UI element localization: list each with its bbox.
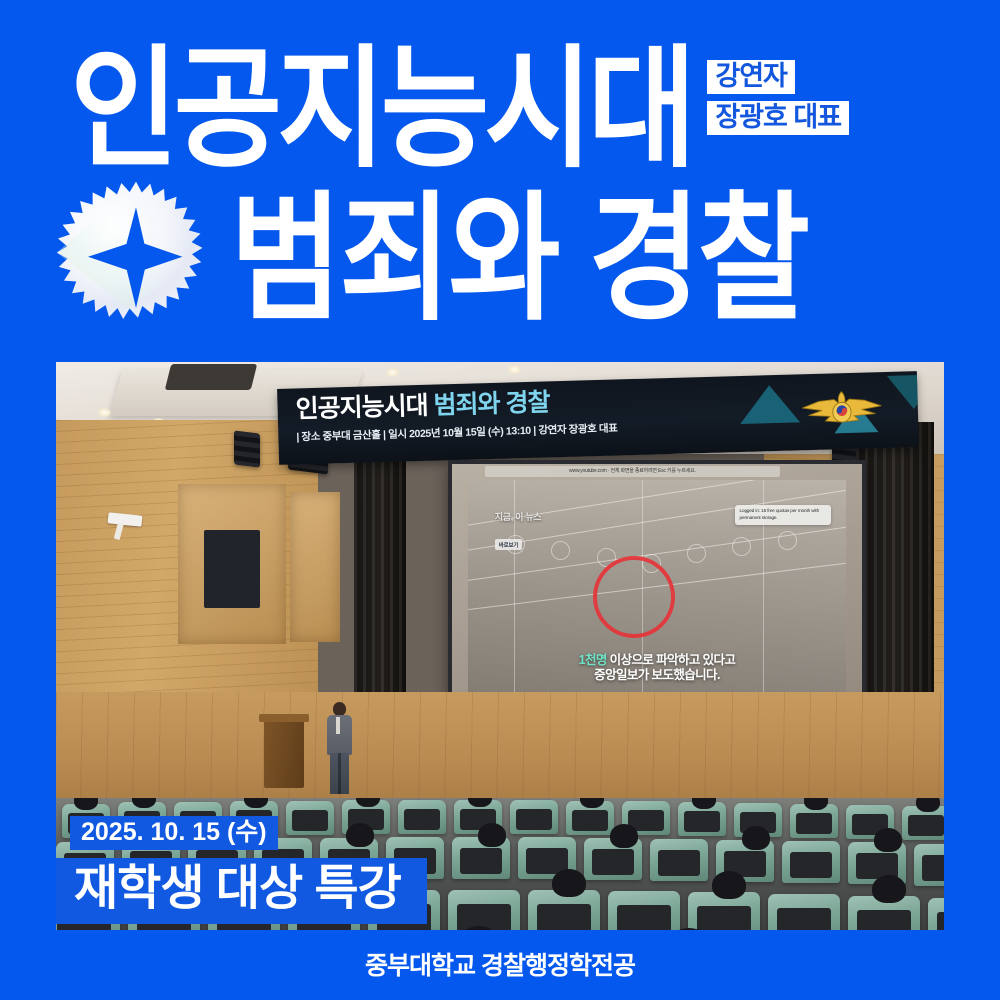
seat xyxy=(398,800,446,834)
slide-browser-bar: www.youtube.com · 전체 화면을 종료하려면 Esc 키를 누르… xyxy=(485,466,780,477)
presenter-head xyxy=(333,702,346,716)
slide-tooltip: Logged in: 15 free quotas per month with… xyxy=(735,505,831,525)
slide-caption-line2: 중앙일보가 보도했습니다. xyxy=(468,668,845,684)
seat xyxy=(928,898,944,930)
podium xyxy=(264,720,304,788)
audience-head xyxy=(916,798,940,812)
line-array-speaker-icon xyxy=(234,430,260,467)
downlight-icon xyxy=(386,368,399,377)
slide-caption-line1: 1천명 이상으로 파악하고 있다고 xyxy=(468,653,845,669)
wall-alcove xyxy=(290,492,340,642)
ceiling-projector-icon xyxy=(165,364,257,390)
starburst-badge-icon xyxy=(56,180,216,340)
presenter-legs xyxy=(330,753,349,794)
slide-chip-button: 바로보기 xyxy=(495,539,522,550)
headline-row-secondary: 범죄와 경찰 xyxy=(56,180,807,340)
banner-title: 인공지능시대 범죄와 경찰 xyxy=(295,384,768,422)
page-subtitle: 범죄와 경찰 xyxy=(230,192,807,328)
seat xyxy=(608,891,680,930)
stage-curtain-right xyxy=(856,422,934,728)
slide-news-label: 지금, 이 뉴스 xyxy=(495,510,542,523)
seat xyxy=(914,844,944,886)
speaker-role-label: 강연자 xyxy=(707,60,795,94)
audience-head xyxy=(742,826,770,850)
seat xyxy=(286,801,334,835)
slide-caption-highlight: 1천명 xyxy=(579,653,607,667)
seat xyxy=(782,841,840,883)
presenter-figure xyxy=(324,702,354,794)
event-date-badge: 2025. 10. 15 (수) xyxy=(70,816,278,850)
headline-row-primary: 인공지능시대 강연자 장광호 대표 xyxy=(70,46,849,162)
razor-coil xyxy=(687,544,706,563)
projection-screen: www.youtube.com · 전체 화면을 종료하려면 Esc 키를 누르… xyxy=(448,460,866,700)
event-photo: 인공지능시대 범죄와 경찰 | 장소 중부대 금산홀 | 일시 2025년 10… xyxy=(56,362,944,930)
seat xyxy=(510,800,558,834)
red-annotation-circle-icon xyxy=(593,556,675,638)
audience-head xyxy=(610,824,638,848)
banner-title-white: 인공지능시대 xyxy=(295,392,428,424)
audience-head xyxy=(478,823,506,847)
seat xyxy=(448,890,520,930)
audience-head xyxy=(874,828,902,852)
speaker-name-label: 장광호 대표 xyxy=(707,101,849,135)
downlight-icon xyxy=(508,365,521,374)
audience-head xyxy=(346,823,374,847)
razor-coil xyxy=(732,537,751,556)
event-poster: 인공지능시대 강연자 장광호 대표 xyxy=(0,0,1000,1000)
organization-footer: 중부대학교 경찰행정학전공 xyxy=(0,946,1000,982)
audience-head xyxy=(712,871,746,899)
razor-coil xyxy=(551,541,570,560)
wall-alcove-panel xyxy=(204,530,260,608)
stage-floor xyxy=(56,692,944,810)
speaker-badge: 강연자 장광호 대표 xyxy=(707,60,849,135)
page-title: 인공지능시대 xyxy=(70,46,691,176)
seat xyxy=(650,839,708,881)
razor-coil xyxy=(778,531,797,550)
slide-caption: 1천명 이상으로 파악하고 있다고 중앙일보가 보도했습니다. xyxy=(468,653,845,684)
audience-head xyxy=(872,875,906,903)
slide-caption-rest: 이상으로 파악하고 있다고 xyxy=(607,653,736,667)
downlight-icon xyxy=(98,408,111,417)
audience-head xyxy=(552,869,586,897)
stage-curtain-left xyxy=(354,422,406,712)
banner-text-block: 인공지능시대 범죄와 경찰 | 장소 중부대 금산홀 | 일시 2025년 10… xyxy=(295,384,768,444)
banner-title-cyan: 범죄와 경찰 xyxy=(433,388,550,419)
korean-police-emblem-icon xyxy=(795,386,888,433)
banner-triangle xyxy=(887,374,919,409)
seat xyxy=(768,894,840,930)
presenter-shirt xyxy=(336,717,340,734)
slide-video-area: 지금, 이 뉴스 바로보기 Logged in: 15 free quotas … xyxy=(468,480,845,692)
target-audience-band: 재학생 대상 특강 xyxy=(56,858,427,924)
